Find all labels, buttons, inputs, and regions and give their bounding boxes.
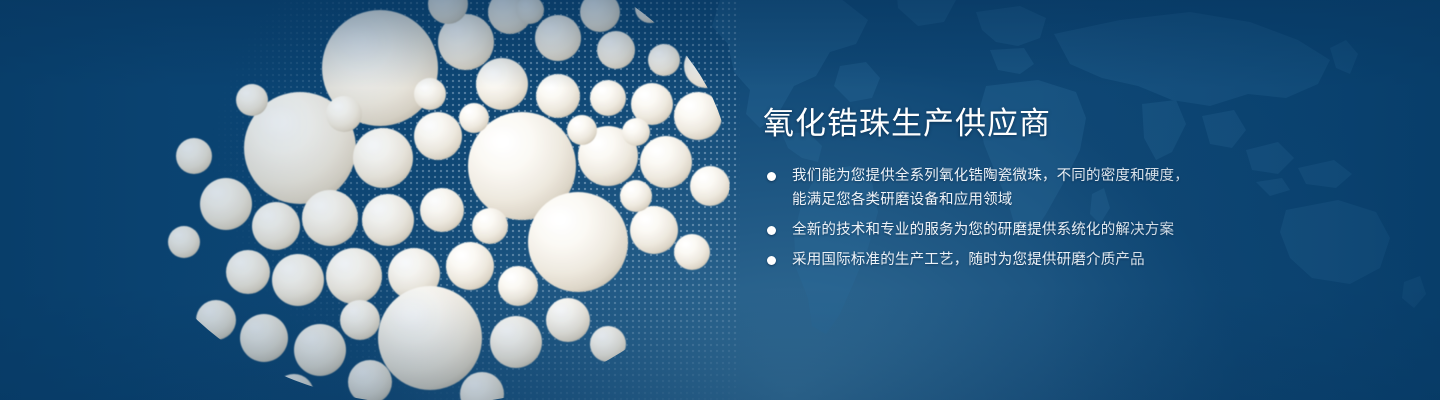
background-vignette bbox=[0, 0, 1440, 400]
hero-banner: 氧化锆珠生产供应商 我们能为您提供全系列氧化锆陶瓷微珠，不同的密度和硬度， 能满… bbox=[0, 0, 1440, 400]
